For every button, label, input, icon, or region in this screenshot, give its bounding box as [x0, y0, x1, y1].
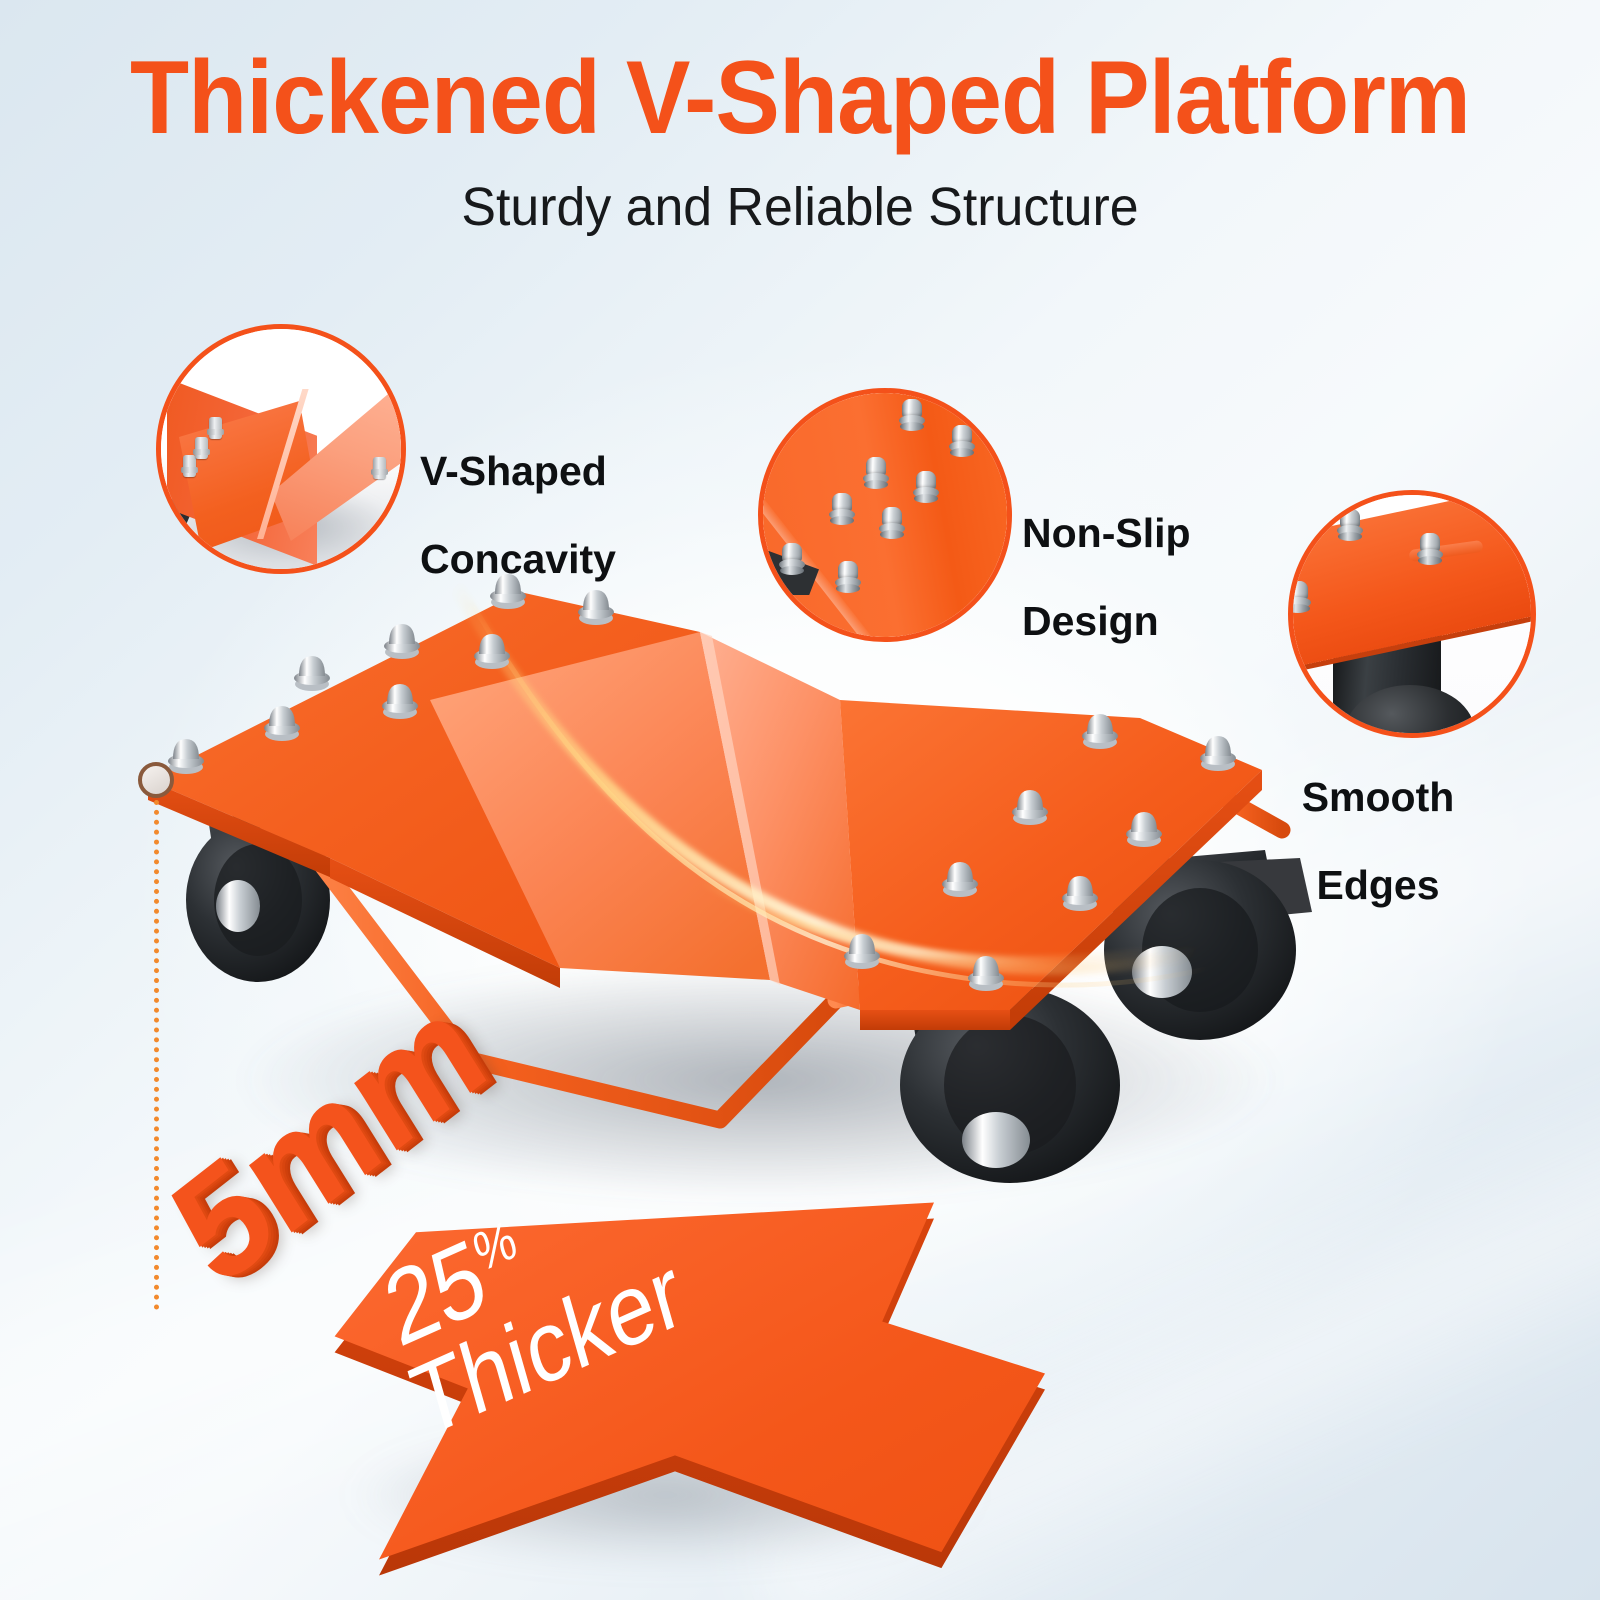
thicker-badge: 25% Thicker [305, 1195, 1045, 1595]
callout-label-non-slip-design: Non-Slip Design [1022, 468, 1191, 687]
callout-circle-v-shaped-concavity [156, 324, 406, 574]
light-swoosh [455, 585, 1390, 985]
caster-wheel-left [186, 812, 330, 982]
platform-center-ridge [700, 632, 860, 1010]
v-shaped-concavity-closeup [161, 329, 401, 569]
measurement-leader-line [154, 800, 159, 1310]
caster-wheel-right-braked [1104, 850, 1312, 1040]
callout-circle-non-slip-design [758, 388, 1012, 642]
callout-label-v-shaped-concavity: V-Shaped Concavity [420, 406, 616, 625]
callout-label-smooth-edges: Smooth Edges [1302, 732, 1455, 951]
page-title: Thickened V-Shaped Platform [56, 44, 1544, 152]
callout-label-line1: Smooth [1302, 776, 1455, 820]
callout-label-line2: Design [1022, 600, 1191, 644]
callout-label-line1: Non-Slip [1022, 512, 1191, 556]
caster-wheel-front [900, 930, 1120, 1183]
callout-label-line2: Concavity [420, 538, 616, 582]
platform-left-wing [148, 592, 770, 988]
callout-circle-smooth-edges [1288, 490, 1536, 738]
page-subtitle: Sturdy and Reliable Structure [32, 178, 1568, 237]
non-slip-design-closeup [763, 393, 1007, 637]
platform-right-wing [840, 700, 1262, 1030]
callout-label-line1: V-Shaped [420, 450, 616, 494]
smooth-edges-closeup [1293, 495, 1531, 733]
callout-label-line2: Edges [1302, 864, 1455, 908]
infographic-canvas: Thickened V-Shaped Platform Sturdy and R… [0, 0, 1600, 1600]
measurement-anchor-icon [138, 762, 174, 798]
